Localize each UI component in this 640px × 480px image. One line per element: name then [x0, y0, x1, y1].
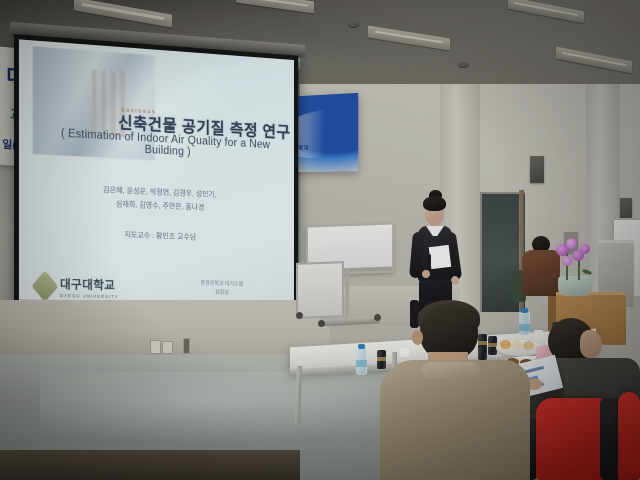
- bottle-label: [356, 360, 367, 367]
- logo-name-ko: 대구대학교: [60, 275, 119, 293]
- wall-outlet: [162, 341, 173, 354]
- wall-outlet: [150, 340, 161, 354]
- screen-frame: business 신축건물 공기질 측정 연구 ( Estimation of …: [14, 34, 298, 328]
- wall-speaker-icon: [530, 156, 544, 183]
- bottle-cap: [358, 344, 365, 349]
- slide-surface: business 신축건물 공기질 측정 연구 ( Estimation of …: [19, 39, 294, 323]
- presenter-left-hand: [422, 270, 430, 278]
- whiteboard-lower-panel: [296, 261, 344, 319]
- audience-face: [580, 330, 602, 358]
- orchid-pot: [558, 276, 592, 296]
- projection-screen: business 신축건물 공기질 측정 연구 ( Estimation of …: [14, 34, 298, 328]
- ceiling-speaker-icon: [458, 62, 469, 68]
- lecture-hall-photo: 대 교 일(금) 발표회 표회 구대학교 환경공학과 business 신축건물…: [0, 0, 640, 480]
- presenter-hair: [423, 196, 446, 211]
- logo-diamond-icon: [31, 270, 58, 302]
- caster-wheel-icon: [374, 314, 381, 321]
- logo-name-en: DAEGU UNIVERSITY: [60, 293, 119, 299]
- orchid-bloom: [562, 256, 572, 266]
- audience-member-front: [382, 300, 532, 480]
- orchid-bloom: [580, 244, 590, 254]
- audience-collar: [422, 362, 480, 378]
- orchid-bloom: [566, 238, 577, 249]
- slide-department: 환경공학과 대기오염 실험실: [162, 279, 280, 300]
- water-bottle: [356, 348, 367, 375]
- audience-jacket: [380, 360, 530, 480]
- caster-wheel-icon: [296, 312, 303, 319]
- audience-ear: [412, 330, 423, 345]
- microphone-icon: [427, 254, 431, 266]
- university-logo: 대구대학교 DAEGU UNIVERSITY: [35, 275, 119, 300]
- foreground-floor-shadow: [0, 450, 300, 480]
- slide-department-line2: 실험실: [162, 288, 280, 300]
- whiteboard-leg: [345, 268, 349, 320]
- ceiling-sheen: [300, 0, 640, 96]
- presenter-right-hand: [451, 276, 459, 285]
- wall-outlet: [183, 338, 190, 354]
- seated-attendee-body: [522, 250, 560, 296]
- ceiling-speaker-icon: [348, 22, 359, 28]
- auditorium-seat: [618, 392, 640, 480]
- caster-wheel-icon: [318, 320, 325, 327]
- presenter-papers: [429, 245, 452, 269]
